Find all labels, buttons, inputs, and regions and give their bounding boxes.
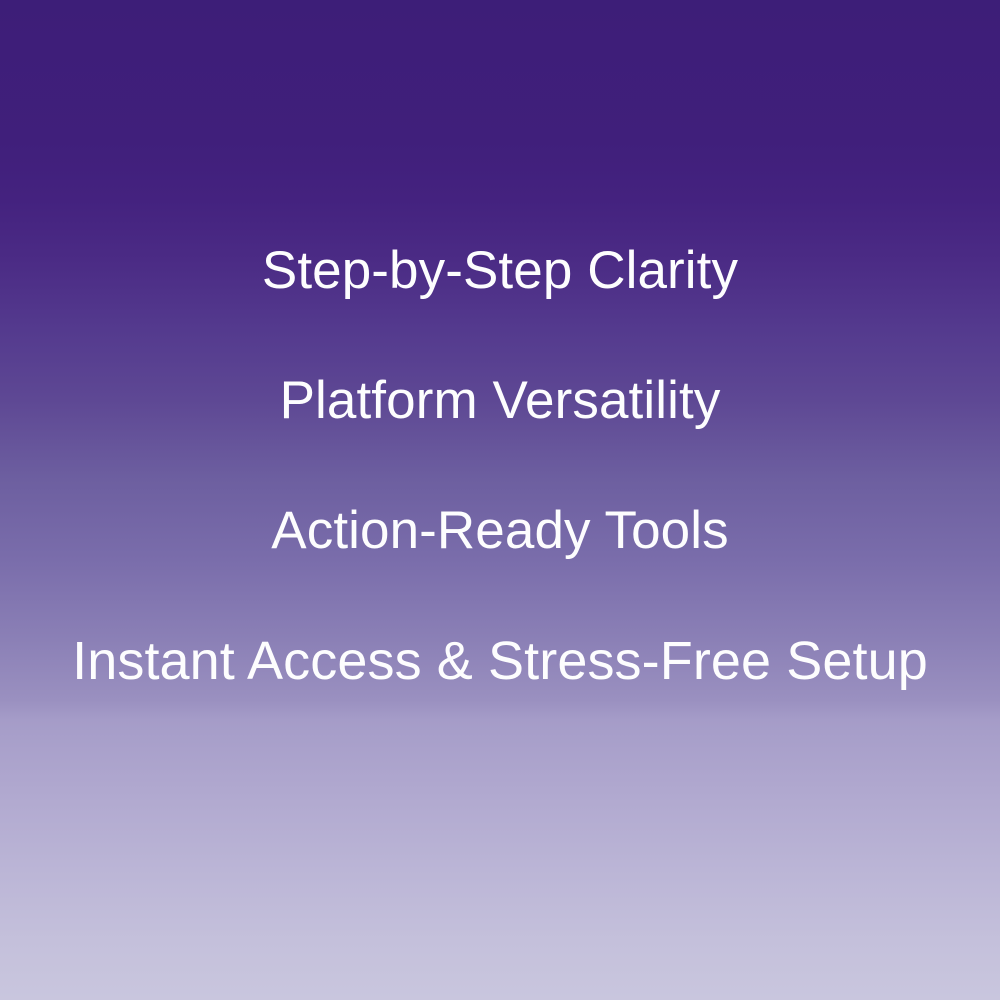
list-item: Action-Ready Tools: [0, 466, 1000, 596]
feature-label: Action-Ready Tools: [271, 501, 728, 560]
feature-slide: Step-by-Step Clarity Platform Versatilit…: [0, 0, 1000, 1000]
feature-label: Instant Access & Stress-Free Setup: [72, 631, 928, 691]
feature-label: Platform Versatility: [280, 371, 721, 430]
list-item: Step-by-Step Clarity: [0, 206, 1000, 336]
list-item: Instant Access & Stress-Free Setup: [0, 596, 1000, 726]
list-item: Platform Versatility: [0, 336, 1000, 466]
feature-label: Step-by-Step Clarity: [262, 241, 738, 300]
